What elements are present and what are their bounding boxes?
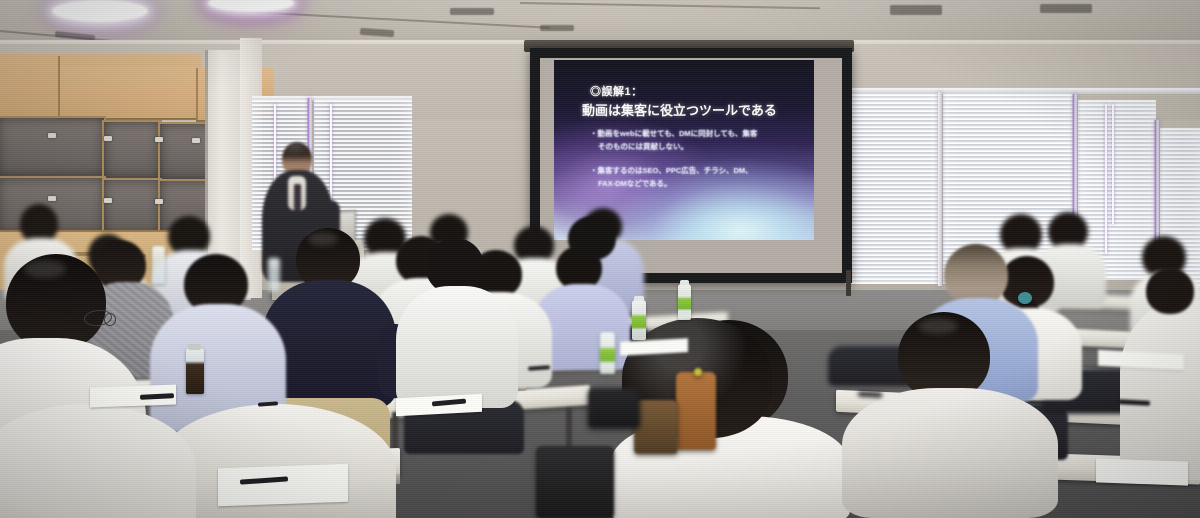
cabinet-glass-door[interactable] <box>102 178 162 236</box>
dark-bag <box>588 388 640 428</box>
cabinet-glass-door[interactable] <box>102 120 162 180</box>
dark-drink-bottle <box>186 348 204 394</box>
water-bottle <box>152 246 165 284</box>
water-bottle <box>268 258 280 292</box>
eyeglasses <box>104 313 116 326</box>
slide-bullet-1-line-1: ・動画をwebに載せても、DMに同封しても、集客 <box>590 128 757 139</box>
slide-marker: ◎誤解1： <box>590 83 643 99</box>
ceiling-vent <box>890 5 942 15</box>
hair-tie <box>1018 292 1032 304</box>
storage-cabinet-upper <box>58 66 198 120</box>
ceiling-vent <box>1040 4 1092 13</box>
ceiling-light-left <box>52 0 148 22</box>
cabinet-glass-door[interactable] <box>0 116 106 178</box>
paper-sheet <box>218 464 348 507</box>
slide-headline: 動画は集客に役立つツールである <box>582 100 777 119</box>
green-tea-bottle <box>678 284 691 320</box>
dark-bag <box>536 446 614 518</box>
ceiling-vent <box>540 25 574 31</box>
paper-sheet <box>1096 458 1188 485</box>
small-object <box>694 368 702 376</box>
green-tea-bottle <box>632 300 646 340</box>
ceiling-vent <box>450 8 494 15</box>
window-blinds[interactable] <box>845 94 940 284</box>
slide-bullet-2-line-2: FAX-DMなどである。 <box>598 178 672 189</box>
presenter-tie <box>294 184 301 210</box>
slide-bullet-2-line-1: ・集客するのはSEO、PPC広告、チラシ、DM、 <box>590 165 753 176</box>
green-tea-bottle <box>600 332 615 374</box>
leather-bag <box>634 400 678 454</box>
seminar-photo: ◎誤解1： 動画は集客に役立つツールである ・動画をwebに載せても、DMに同封… <box>0 0 1200 518</box>
leather-bag <box>676 372 716 450</box>
slide-bullet-1-line-2: そのものには貢献しない。 <box>598 141 688 152</box>
